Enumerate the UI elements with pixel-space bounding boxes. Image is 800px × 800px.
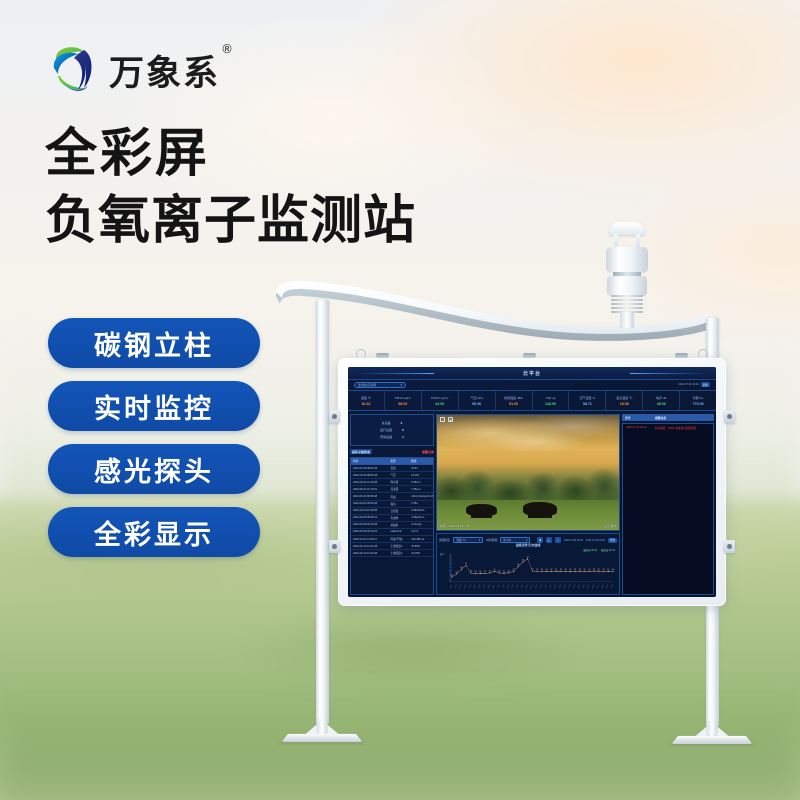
svg-text:26.9: 26.9 [603, 569, 605, 572]
center-panel: ⛶ ◉ 时间：2022/7/3 16：42 山东 潍坊 监测因子 温度(℃) ▾ [436, 414, 620, 595]
metric-tsp: TSP ug 143.00 [533, 391, 570, 410]
svg-text:25.9: 25.9 [489, 570, 491, 573]
side-bracket-right-bottom [724, 540, 735, 553]
latest-data-table[interactable]: 时间 类型 数值 2022-06-30 08:03:18 温度 32.87 20… [350, 457, 434, 595]
chart-title: 温度走势 历史曲线 [516, 543, 541, 547]
metric-humidity: 空气湿度 % 58.71 [569, 391, 606, 410]
svg-text:38: 38 [450, 555, 451, 558]
svg-text:21:00: 21:00 [549, 584, 552, 589]
svg-text:13:00: 13:00 [511, 584, 514, 589]
metrics-strip: 温度 ℃ 36.32 PM10 ug/m³ 58.00 PM2.5 ug/m³ … [348, 390, 716, 411]
metric-pm10: PM10 ug/m³ 58.00 [385, 391, 422, 410]
svg-text:27.2: 27.2 [532, 568, 534, 571]
download-icon[interactable]: ⤓ [555, 537, 561, 543]
sensor-lower-body [607, 276, 647, 296]
svg-text:27.0: 27.0 [546, 569, 548, 572]
history-line-chart: 温度 ℃2022242628303234363823.100:0025.201:… [439, 549, 617, 592]
svg-text:25.7: 25.7 [503, 571, 505, 574]
datetime-value: 2022-07-03 16:42 [678, 383, 698, 386]
camera-icon[interactable]: ◉ [448, 417, 453, 422]
svg-text:36: 36 [450, 558, 451, 561]
date-start[interactable]: 2022-07-03 00:00 [564, 539, 583, 542]
svg-text:26.0: 26.0 [508, 570, 510, 573]
svg-text:27.0: 27.0 [598, 569, 600, 572]
svg-text:25.8: 25.8 [498, 570, 500, 573]
sensor-stem [620, 312, 634, 328]
table-row[interactable]: 2022-06-21 16:10:51 蒸发量 1.55Lux [351, 486, 433, 493]
svg-text:32: 32 [450, 564, 451, 567]
svg-text:25.2: 25.2 [456, 571, 458, 574]
table-row[interactable]: 2022-05-13 13:22:38 土壤温度2 34.05% [351, 550, 433, 557]
sensor-upper-body [606, 247, 648, 273]
svg-text:01:00: 01:00 [454, 584, 457, 589]
svg-text:26.9: 26.9 [565, 569, 567, 572]
svg-text:14:00: 14:00 [516, 584, 519, 589]
svg-text:30: 30 [450, 567, 451, 570]
svg-text:03:00: 03:00 [464, 584, 467, 589]
brand-name: 万象系 ® [109, 45, 220, 96]
feed-cattle-1 [466, 504, 497, 517]
svg-text:07:00: 07:00 [597, 584, 600, 589]
base-plate-right [675, 720, 749, 746]
svg-text:26.9: 26.9 [551, 569, 553, 572]
table-row[interactable]: 2022-06-30 08:03:18 温度 32.87 [351, 465, 433, 472]
feature-badge-list: 碳钢立柱 实时监控 感光探头 全彩显示 [48, 318, 260, 557]
svg-text:27.1: 27.1 [555, 569, 557, 572]
camera-feed[interactable]: ⛶ ◉ 时间：2022/7/3 16：42 山东 潍坊 [436, 414, 620, 531]
chart-plot-area: 温度 ℃2022242628303234363823.100:0025.201:… [439, 549, 617, 592]
svg-text:20: 20 [450, 581, 451, 584]
alarm-row[interactable]: 2022-07-03 16:12 超标报警：PM10 浓度超过预警阈值 [623, 424, 713, 431]
stat-abnormal-devices: 异常设备 1 [357, 435, 427, 439]
svg-text:26.9: 26.9 [536, 569, 538, 572]
brand-name-text: 万象系 [109, 54, 220, 94]
svg-text:23.1: 23.1 [451, 574, 453, 577]
metric-pm25: PM2.5 ug/m³ 44.00 [422, 391, 459, 410]
side-bracket-right-top [724, 410, 735, 423]
svg-text:22: 22 [450, 578, 451, 581]
swirl-globe-icon [48, 42, 100, 98]
svg-text:26.8: 26.8 [574, 569, 576, 572]
history-chart-panel: 监测因子 温度(℃) ▾ 时间类型 按小时 ▾ ▮ [436, 533, 620, 595]
query-button[interactable]: 查询 [608, 538, 617, 543]
mount-ring-right [698, 349, 708, 359]
svg-text:35.8: 35.8 [527, 556, 529, 559]
metric-dew-point: 露点温度 ℃ 18.58 [606, 391, 643, 410]
dashboard-title: 云平台 [523, 370, 541, 377]
svg-text:25.8: 25.8 [470, 570, 472, 573]
svg-text:28: 28 [450, 570, 451, 573]
side-bracket-left-bottom [329, 540, 340, 553]
svg-text:11:00: 11:00 [502, 584, 505, 589]
product-banner: 万象系 ® 全彩屏 负氧离子监测站 碳钢立柱 实时监控 感光探头 全彩显示 [0, 0, 800, 800]
svg-text:25.4: 25.4 [475, 571, 477, 574]
stat-total-devices: 总设备 3 [357, 421, 427, 425]
table-row[interactable]: 2022-06-08 09:10:18 总辐射 0.4mcgA [351, 522, 433, 529]
table-row[interactable]: 2022-06-30 08:03:18 气压 32.187 [351, 472, 433, 479]
mount-ring-left [356, 349, 366, 359]
factor-select[interactable]: 温度(℃) ▾ [453, 537, 483, 543]
feed-cattle-2 [523, 502, 558, 516]
feature-badge-carbon-steel-pole: 碳钢立柱 [48, 318, 260, 368]
header-datetime: 2022-07-03 16:42 刷新 [678, 382, 710, 387]
latest-data-header: 最新采集数据 报警记录 [350, 448, 434, 455]
table-row[interactable]: 2022-06-21 16:40:08 降水量 0.38mm [351, 479, 433, 486]
svg-text:23:00: 23:00 [559, 584, 562, 589]
alarm-list[interactable]: 2022-07-03 16:12 超标报警：PM10 浓度超过预警阈值 [622, 423, 714, 595]
svg-text:27.2: 27.2 [593, 568, 595, 571]
date-end[interactable]: 2022-07-03 16:00 [586, 539, 605, 542]
led-screen: 云平台 监测站点选择 ▾ 2022-07-03 16:42 刷新 温度 ℃ 36… [348, 367, 716, 597]
base-plate-left [285, 718, 359, 744]
svg-text:33.6: 33.6 [522, 559, 524, 562]
feed-treeline [437, 466, 619, 503]
mount-tab-right [675, 353, 688, 358]
svg-text:02:00: 02:00 [573, 584, 576, 589]
dashboard-body: 总设备 3 运行设备 2 异常设备 1 最新采集数据 [348, 412, 716, 597]
svg-text:30.4: 30.4 [517, 564, 519, 567]
svg-text:05:00: 05:00 [473, 584, 476, 589]
metric-noise-db: 噪声 db 48.00 [643, 391, 680, 410]
feature-badge-realtime-monitoring: 实时监控 [48, 381, 260, 431]
chevron-down-icon: ▾ [479, 539, 480, 542]
feature-badge-light-sensor: 感光探头 [48, 444, 260, 494]
table-row[interactable]: 2022-05-13 13:22:38 土壤温度1 33.85% [351, 543, 433, 550]
svg-text:07:00: 07:00 [483, 584, 486, 589]
svg-text:10:00: 10:00 [611, 584, 614, 589]
svg-text:16:00: 16:00 [526, 584, 529, 589]
svg-text:27.1: 27.1 [607, 569, 609, 572]
svg-text:15:00: 15:00 [521, 584, 524, 589]
alarm-table-header: 序号 报警信息 [622, 414, 714, 421]
svg-text:27.0: 27.0 [560, 569, 562, 572]
headline-line-1: 全彩屏 [45, 124, 416, 185]
chevron-down-icon: ▾ [400, 383, 402, 387]
feed-controls: ⛶ ◉ [440, 417, 453, 422]
side-bracket-left-top [329, 410, 340, 423]
svg-text:04:00: 04:00 [469, 584, 472, 589]
svg-text:19:00: 19:00 [540, 584, 543, 589]
table-row[interactable]: 2022-06-08 09:50:12 有效降 1.08a/2mm [351, 515, 433, 522]
support-pole-left [316, 300, 329, 724]
page-title: 全彩屏 负氧离子监测站 [45, 124, 416, 253]
fullscreen-icon[interactable]: ⛶ [440, 417, 445, 422]
right-panel: 序号 报警信息 2022-07-03 16:12 超标报警：PM10 浓度超过预… [622, 414, 714, 595]
metric-temperature: 温度 ℃ 36.32 [348, 391, 385, 410]
table-row[interactable]: 2022-06-20 09:50:28 噪音 1.55s [351, 501, 433, 508]
metric-noise-level: 噪音强度 dBm 51.00 [496, 391, 533, 410]
mount-tab-center [523, 353, 536, 358]
latest-data-title: 最新采集数据 [350, 449, 372, 454]
svg-text:06:00: 06:00 [478, 584, 481, 589]
stat-running-devices: 运行设备 2 [357, 428, 427, 432]
svg-text:08:00: 08:00 [601, 584, 604, 589]
svg-text:27.1: 27.1 [494, 569, 496, 572]
svg-text:26.8: 26.8 [541, 569, 543, 572]
feature-badge-full-color-display: 全彩显示 [48, 507, 260, 557]
svg-text:05:00: 05:00 [587, 584, 590, 589]
header-decor-right [630, 373, 708, 374]
ultrasonic-weather-sensor-icon [600, 222, 654, 322]
svg-text:34: 34 [450, 561, 451, 564]
header-decor-left [356, 373, 434, 374]
alarm-records-link[interactable]: 报警记录 [422, 450, 434, 454]
refresh-button[interactable]: 刷新 [701, 382, 710, 387]
station-select[interactable]: 监测站点选择 ▾ [354, 382, 406, 388]
table-header-row: 时间 类型 数值 [351, 458, 433, 465]
brand-logo: 万象系 ® [48, 42, 220, 98]
svg-text:04:00: 04:00 [582, 584, 585, 589]
svg-text:25.5: 25.5 [484, 571, 486, 574]
svg-text:26.9: 26.9 [584, 569, 586, 572]
factor-label: 监测因子 [439, 538, 450, 542]
feed-timestamp: 时间：2022/7/3 16：42 [440, 524, 469, 528]
svg-text:02:00: 02:00 [459, 584, 462, 589]
station-select-value: 监测站点选择 [358, 383, 376, 387]
svg-text:27.0: 27.0 [588, 569, 590, 572]
svg-text:06:00: 06:00 [592, 584, 595, 589]
left-panel: 总设备 3 运行设备 2 异常设备 1 最新采集数据 [350, 414, 434, 595]
trademark-icon: ® [221, 42, 235, 56]
table-row[interactable]: 2022-06-08 09:10:15 solarvUTc 13.73 [351, 529, 433, 536]
line-chart-icon[interactable]: ◺ [546, 537, 552, 543]
dashboard-header: 云平台 [348, 367, 716, 380]
metric-illuminance: 风照 lux 770.00 [680, 391, 716, 410]
svg-text:27.0: 27.0 [569, 569, 571, 572]
table-row[interactable]: 2022-06-20 09:50:28 风速 1012.1&nbsp;Km/h [351, 493, 433, 500]
table-row[interactable]: 2022-06-20 13:36:58 日照量 0.2810%uF [351, 508, 433, 515]
svg-text:31.2: 31.2 [465, 563, 467, 566]
svg-text:09:00: 09:00 [492, 584, 495, 589]
svg-text:10:00: 10:00 [497, 584, 500, 589]
svg-text:09:00: 09:00 [606, 584, 609, 589]
svg-text:20:00: 20:00 [545, 584, 548, 589]
svg-text:00:00: 00:00 [564, 584, 567, 589]
chevron-down-icon: ▾ [526, 539, 527, 542]
svg-text:25.6: 25.6 [479, 571, 481, 574]
headline-line-2: 负氧离子监测站 [45, 191, 416, 252]
svg-text:17:00: 17:00 [530, 584, 533, 589]
svg-text:00:00: 00:00 [450, 584, 453, 589]
svg-text:27.1: 27.1 [579, 569, 581, 572]
svg-text:22:00: 22:00 [554, 584, 557, 589]
svg-text:08:00: 08:00 [488, 584, 491, 589]
metric-pressure: 气压 kPa 99.30 [459, 391, 496, 410]
display-cabinet: 云平台 监测站点选择 ▾ 2022-07-03 16:42 刷新 温度 ℃ 36… [338, 358, 726, 606]
svg-text:温度 ℃: 温度 ℃ [440, 551, 445, 556]
timetype-label: 时间类型 [486, 538, 497, 542]
mount-tab-left [376, 353, 389, 358]
svg-text:18:00: 18:00 [535, 584, 538, 589]
sensor-radiation-shield [611, 295, 643, 313]
svg-text:01:00: 01:00 [568, 584, 571, 589]
svg-text:12:00: 12:00 [507, 584, 510, 589]
svg-text:03:00: 03:00 [578, 584, 581, 589]
svg-text:28.4: 28.4 [460, 567, 462, 570]
svg-text:26.8: 26.8 [513, 569, 515, 572]
device-stats-box: 总设备 3 运行设备 2 异常设备 1 [350, 414, 434, 446]
svg-text:26.8: 26.8 [612, 569, 614, 572]
table-row[interactable]: 2022-06-01 11:50:47 风速(干燥) 106.385 pa [351, 536, 433, 543]
feed-location: 山东 潍坊 [604, 524, 616, 528]
